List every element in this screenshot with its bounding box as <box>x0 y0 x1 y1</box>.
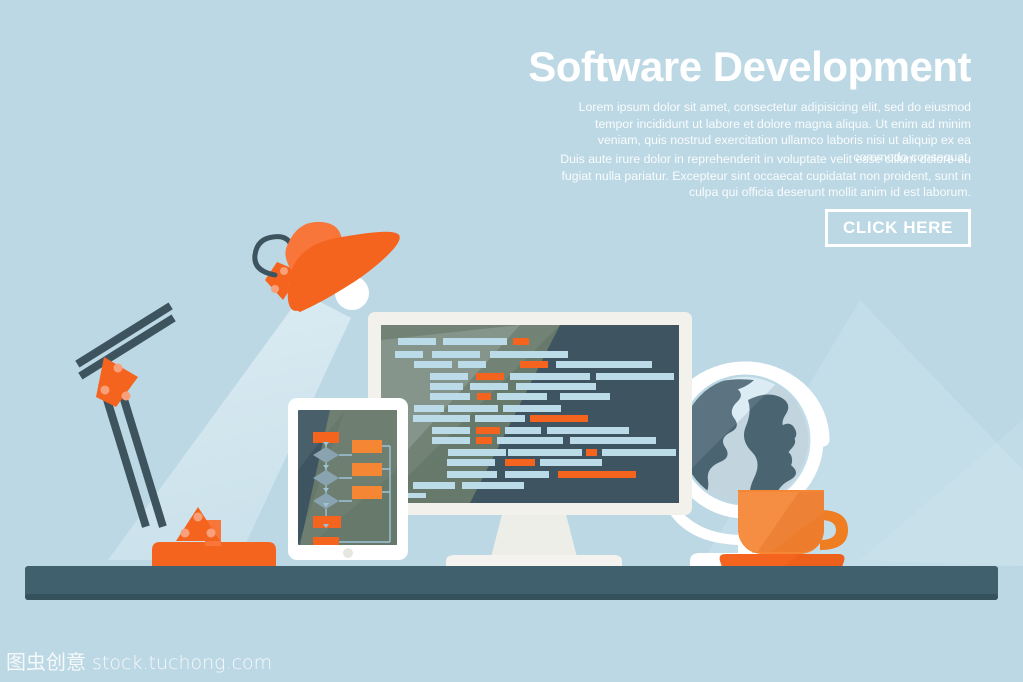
page-title: Software Development <box>528 46 971 88</box>
watermark-url: stock.tuchong.com <box>92 652 272 674</box>
watermark-cn: 图虫创意 <box>6 650 86 674</box>
illustration-stage: Software Development Lorem ipsum dolor s… <box>0 0 1023 682</box>
click-here-button[interactable]: CLICK HERE <box>825 209 971 247</box>
intro-paragraph-2: Duis aute irure dolor in reprehenderit i… <box>551 151 971 201</box>
watermark: 图虫创意 stock.tuchong.com <box>6 646 272 675</box>
text-layer: Software Development Lorem ipsum dolor s… <box>0 0 1023 682</box>
